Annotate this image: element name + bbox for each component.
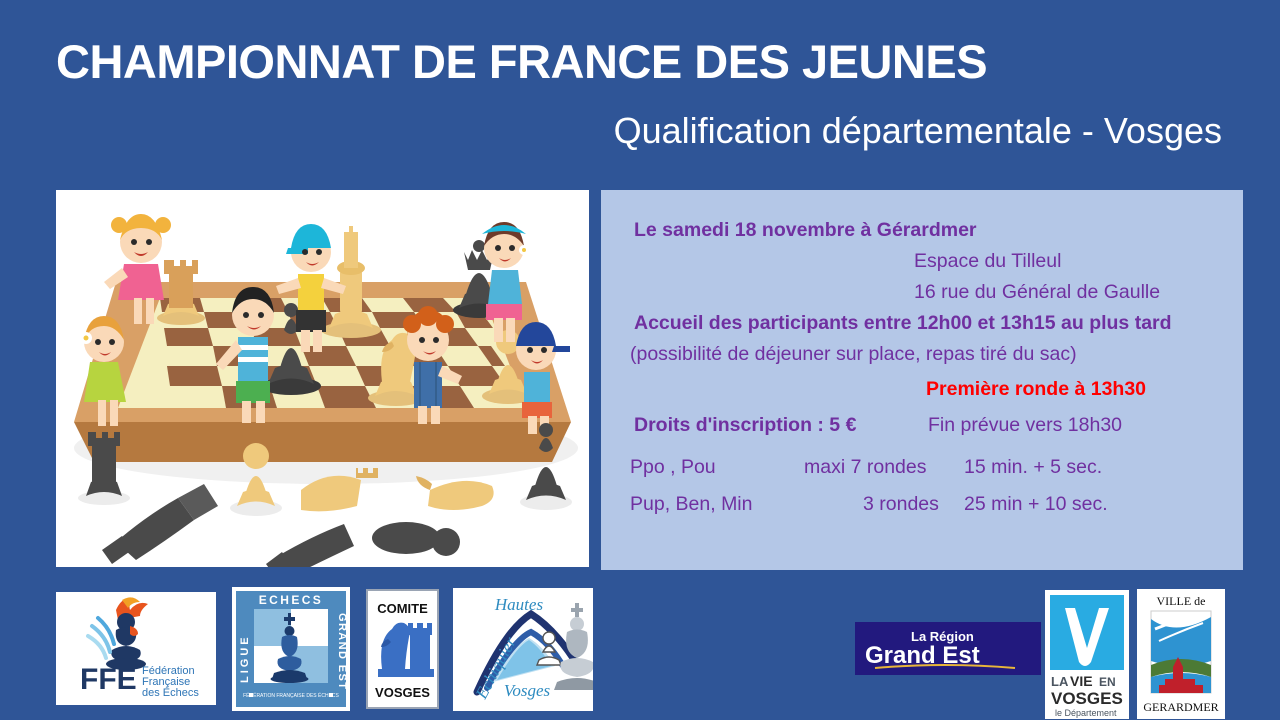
echiquier-logo-svg: Echiquier Hautes Vosges bbox=[453, 588, 593, 711]
vosges-line1: LA bbox=[1051, 674, 1069, 689]
ligue-top-word: ECHECS bbox=[259, 593, 323, 607]
vosges-line1b: VIE bbox=[1070, 673, 1093, 689]
info-first-round: Première ronde à 13h30 bbox=[926, 380, 1146, 400]
chess-kids-illustration bbox=[56, 190, 589, 567]
ligue-left-word: LIGUE bbox=[239, 634, 251, 683]
comite-rook-icon bbox=[406, 623, 434, 677]
event-info-panel: Le samedi 18 novembre à Gérardmer Espace… bbox=[601, 190, 1243, 570]
info-entry-fee: Droits d'inscription : 5 € bbox=[634, 416, 856, 436]
la-vie-en-vosges-logo: LA VIE EN VOSGES le Département bbox=[1045, 590, 1129, 719]
schedule-row-2-time-control: 25 min + 10 sec. bbox=[964, 495, 1108, 515]
schedule-row-1-categories: Ppo , Pou bbox=[630, 458, 716, 478]
schedule-row-2-rounds: 3 rondes bbox=[863, 495, 939, 515]
info-date: Le samedi 18 novembre à Gérardmer bbox=[634, 221, 977, 241]
vosges-line2: VOSGES bbox=[1051, 689, 1123, 708]
ffe-acronym: FFE bbox=[80, 663, 137, 696]
vosges-line1c: EN bbox=[1099, 675, 1116, 689]
comite-logo-svg: COMITE VOSGES bbox=[368, 591, 437, 707]
info-lunch-note: (possibilité de déjeuner sur place, repa… bbox=[630, 345, 1077, 365]
gerardmer-bottom-word: GERARDMER bbox=[1143, 700, 1218, 714]
ligue-echecs-grand-est-logo: ECHECS LIGUE GRAND EST FÉDÉRATION FRANÇA… bbox=[232, 587, 350, 711]
vosges-line3: le Département bbox=[1055, 708, 1117, 718]
ffe-logo-svg: FFE Fédération Française des Échecs bbox=[56, 592, 216, 705]
echiquier-word2: Hautes bbox=[494, 595, 544, 614]
schedule-row-2-categories: Pup, Ben, Min bbox=[630, 495, 752, 515]
ffe-line3: des Échecs bbox=[142, 686, 199, 699]
region-grand-est-logo: La Région Grand Est bbox=[855, 622, 1041, 675]
ligue-footer: FÉDÉRATION FRANÇAISE DES ÉCHECS bbox=[243, 692, 339, 699]
poster-root: CHAMPIONNAT DE FRANCE DES JEUNES Qualifi… bbox=[0, 0, 1280, 720]
page-subtitle: Qualification départementale - Vosges bbox=[614, 110, 1222, 152]
ville-de-gerardmer-logo: VILLE de GERARDMER bbox=[1137, 589, 1225, 719]
echiquier-word3: Vosges bbox=[504, 681, 551, 700]
chess-illustration-svg bbox=[56, 190, 589, 567]
comite-vosges-logo: COMITE VOSGES bbox=[366, 589, 439, 709]
info-venue-address: 16 rue du Général de Gaulle bbox=[914, 283, 1160, 303]
info-venue-name: Espace du Tilleul bbox=[914, 252, 1061, 272]
schedule-row-1-rounds: maxi 7 rondes bbox=[804, 458, 926, 478]
ligue-logo-svg: ECHECS LIGUE GRAND EST FÉDÉRATION FRANÇA… bbox=[232, 587, 350, 711]
comite-top-word: COMITE bbox=[377, 601, 428, 616]
comite-bottom-word: VOSGES bbox=[375, 685, 430, 700]
info-welcome-time: Accueil des participants entre 12h00 et … bbox=[634, 314, 1172, 334]
page-title: CHAMPIONNAT DE FRANCE DES JEUNES bbox=[56, 34, 987, 89]
echiquier-hautes-vosges-logo: Echiquier Hautes Vosges bbox=[453, 588, 593, 711]
vosges-logo-svg: LA VIE EN VOSGES le Département bbox=[1045, 590, 1129, 719]
schedule-row-1-time-control: 15 min. + 5 sec. bbox=[964, 458, 1102, 478]
grand-est-logo-svg: La Région Grand Est bbox=[855, 622, 1041, 675]
gerardmer-logo-svg: VILLE de GERARDMER bbox=[1137, 589, 1225, 719]
ffe-logo: FFE Fédération Française des Échecs bbox=[56, 592, 216, 705]
gerardmer-top-word: VILLE de bbox=[1157, 594, 1206, 608]
info-end-time: Fin prévue vers 18h30 bbox=[928, 416, 1122, 436]
ligue-right-word: GRAND EST bbox=[336, 613, 348, 690]
